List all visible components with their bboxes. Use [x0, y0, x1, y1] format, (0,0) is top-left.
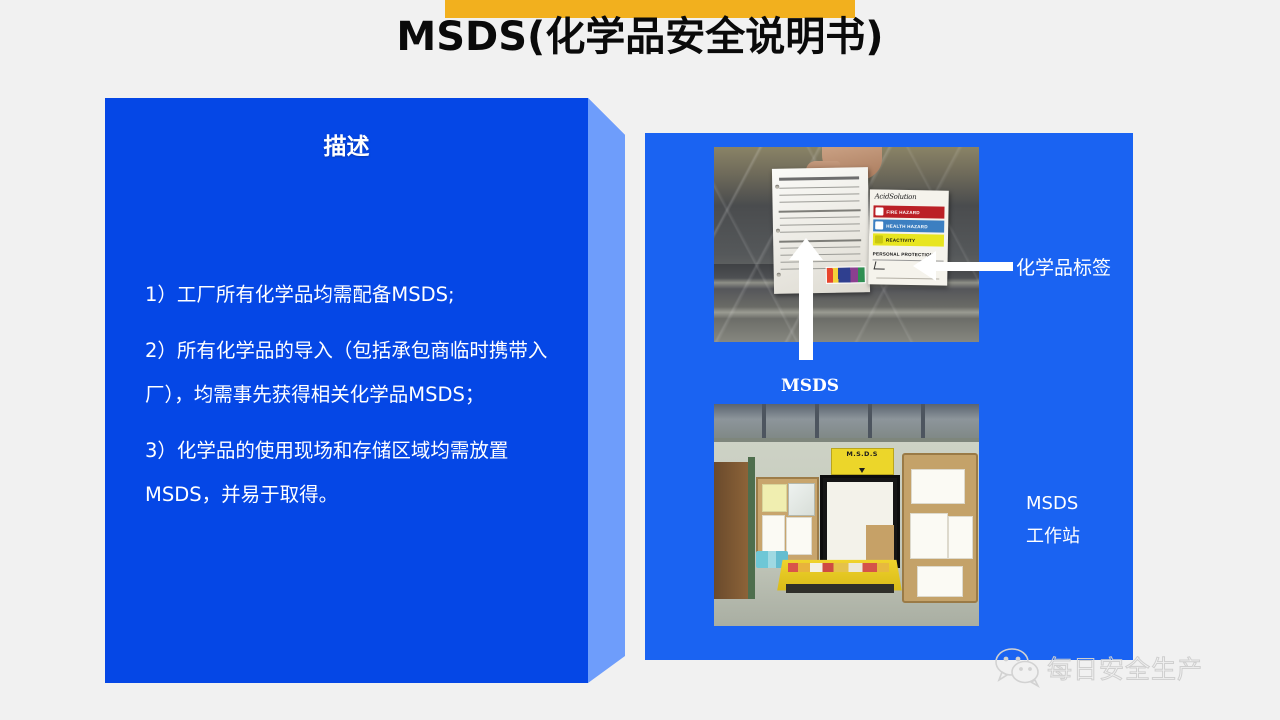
watermark: 每日安全生产 [995, 648, 1203, 688]
handwriting-mark [874, 261, 887, 269]
illustration-panel: AcidSolution FIRE HAZARD HEALTH HAZARD R… [645, 133, 1133, 660]
wooden-door [714, 462, 748, 600]
shelf-shadow [786, 584, 895, 593]
description-item-3: 3）化学品的使用现场和存储区域均需放置MSDS，并易于取得。 [145, 429, 550, 517]
msds-display-frame [820, 475, 900, 568]
msds-station-line-1: MSDS [1026, 487, 1080, 520]
page-title: MSDS(化学品安全说明书) [0, 4, 1280, 62]
chemical-label-pointer-arrow-icon [935, 262, 1013, 271]
shelf-contents [788, 563, 889, 572]
hazard-label-title: AcidSolution [875, 192, 917, 201]
chemical-label-callout-label: 化学品标签 [1016, 253, 1111, 280]
description-panel: 描述 1）工厂所有化学品均需配备MSDS; 2）所有化学品的导入（包括承包商临时… [105, 98, 625, 683]
msds-station-line-2: 工作站 [1026, 520, 1080, 553]
description-panel-face: 描述 1）工厂所有化学品均需配备MSDS; 2）所有化学品的导入（包括承包商临时… [105, 98, 588, 683]
hazard-row-health: HEALTH HAZARD [873, 219, 944, 232]
msds-callout-label: MSDS [745, 376, 875, 396]
right-bulletin-board [902, 453, 978, 604]
msds-sheet-and-hazard-label-photo: AcidSolution FIRE HAZARD HEALTH HAZARD R… [714, 147, 979, 342]
watermark-text: 每日安全生产 [1047, 650, 1203, 686]
slide-title-area: MSDS(化学品安全说明书) [0, 0, 1280, 72]
color-code-strip [826, 266, 866, 284]
msds-workstation-photo: M.S.D.S [714, 404, 979, 626]
chemical-hazard-label: AcidSolution FIRE HAZARD HEALTH HAZARD R… [868, 189, 949, 285]
msds-station-callout-label: MSDS 工作站 [1026, 487, 1080, 553]
green-post [748, 457, 755, 599]
slide-root: MSDS(化学品安全说明书) 描述 1）工厂所有化学品均需配备MSDS; 2）所… [0, 0, 1280, 720]
description-item-2: 2）所有化学品的导入（包括承包商临时携带入厂），均需事先获得相关化学品MSDS； [145, 329, 550, 417]
railing [714, 438, 979, 442]
down-arrow-icon [859, 468, 865, 473]
reactivity-icon [875, 235, 883, 243]
description-item-1: 1）工厂所有化学品均需配备MSDS; [145, 273, 550, 317]
wechat-icon [995, 648, 1041, 688]
ceiling [714, 404, 979, 442]
description-heading: 描述 [105, 127, 588, 161]
msds-document [772, 167, 870, 294]
description-body: 1）工厂所有化学品均需配备MSDS; 2）所有化学品的导入（包括承包商临时携带入… [145, 273, 550, 529]
health-hazard-icon [875, 221, 883, 229]
hazard-row-reactivity: REACTIVITY [873, 233, 944, 246]
hazard-row-fire: FIRE HAZARD [873, 205, 944, 218]
msds-sign: M.S.D.S [831, 448, 894, 474]
fire-hazard-icon [875, 207, 883, 215]
msds-pointer-arrow-icon [799, 258, 813, 360]
